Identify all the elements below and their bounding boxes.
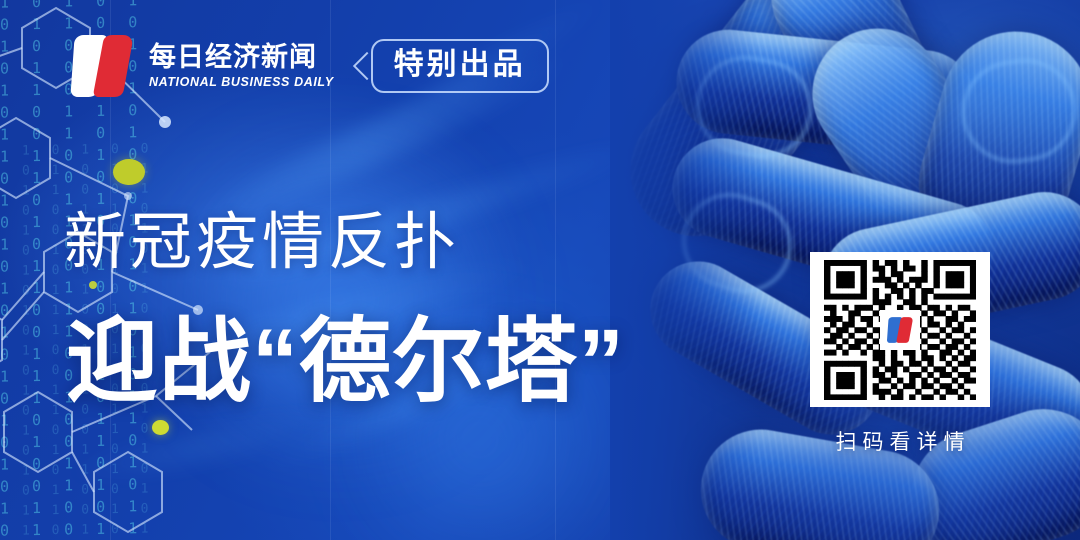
badge-label: 特别出品	[394, 50, 526, 80]
headline-text: 迎战“德尔塔”	[66, 316, 625, 408]
qr-code[interactable]	[810, 252, 990, 407]
molecule-node-mid-dot	[89, 281, 97, 289]
qr-center-logo-icon	[880, 310, 920, 350]
badge-pointer-tail	[353, 52, 381, 80]
qr-caption: 扫码看详情	[810, 426, 990, 456]
qr-block: 扫码看详情	[810, 252, 990, 456]
header: 每日经济新闻 NATIONAL BUSINESS DAILY 特别出品	[66, 33, 549, 99]
special-edition-badge[interactable]: 特别出品	[371, 39, 549, 93]
brand-logo[interactable]: 每日经济新闻 NATIONAL BUSINESS DAILY	[66, 33, 334, 99]
nbd-logo-mark-icon	[66, 33, 138, 99]
molecule-node-upper-dot	[113, 159, 145, 185]
poster-canvas: 1 0 1 0 1 0 1 1 0 0 1 0 0 1 1 0 1 0 1 0 …	[0, 0, 1080, 540]
subtitle-text: 新冠疫情反扑	[64, 212, 460, 274]
molecule-node-lower-dot	[152, 420, 169, 435]
brand-name-cn: 每日经济新闻	[149, 43, 334, 71]
brand-name-en: NATIONAL BUSINESS DAILY	[149, 75, 334, 89]
